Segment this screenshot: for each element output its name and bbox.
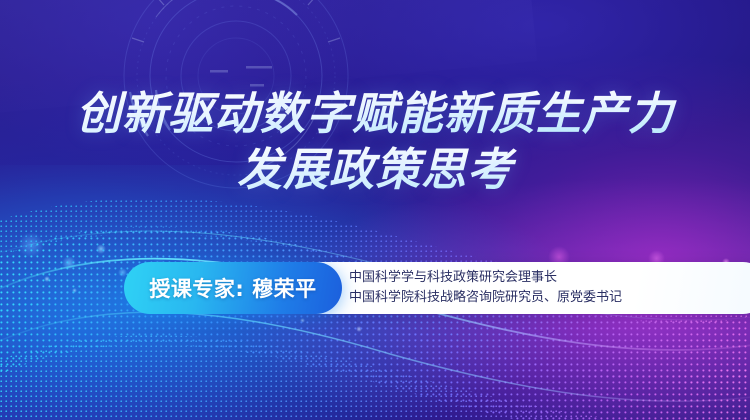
credentials-text: 中国科学学与科技政策研究会理事长 中国科学院科技战略咨询院研究员、原党委书记: [349, 268, 622, 308]
expert-name-label: 授课专家: 穆荣平: [149, 273, 316, 303]
expert-name-badge: 授课专家: 穆荣平: [124, 262, 342, 314]
banner-title: 创新驱动数字赋能新质生产力 发展政策思考: [0, 86, 750, 198]
title-line-2: 发展政策思考: [0, 142, 750, 198]
credential-line-1: 中国科学学与科技政策研究会理事长: [349, 268, 622, 288]
title-line-1: 创新驱动数字赋能新质生产力: [0, 86, 750, 142]
credentials-panel: 中国科学学与科技政策研究会理事长 中国科学院科技战略咨询院研究员、原党委书记: [284, 262, 750, 314]
credential-line-2: 中国科学院科技战略咨询院研究员、原党委书记: [349, 288, 622, 308]
course-promo-banner: 创新驱动数字赋能新质生产力 发展政策思考 中国科学学与科技政策研究会理事长 中国…: [0, 0, 750, 420]
